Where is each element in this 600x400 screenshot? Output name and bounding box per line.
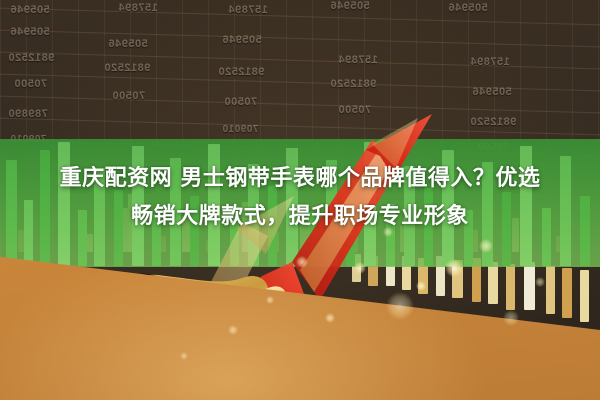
banner-image: 5059465059469812520705007898907090101578… <box>0 0 600 400</box>
headline-line-1: 重庆配资网 男士钢带手表哪个品牌值得入？优选 <box>0 160 600 198</box>
headline-line-2: 畅销大牌款式，提升职场专业形象 <box>0 198 600 236</box>
headline-text: 重庆配资网 男士钢带手表哪个品牌值得入？优选 畅销大牌款式，提升职场专业形象 <box>0 160 600 236</box>
